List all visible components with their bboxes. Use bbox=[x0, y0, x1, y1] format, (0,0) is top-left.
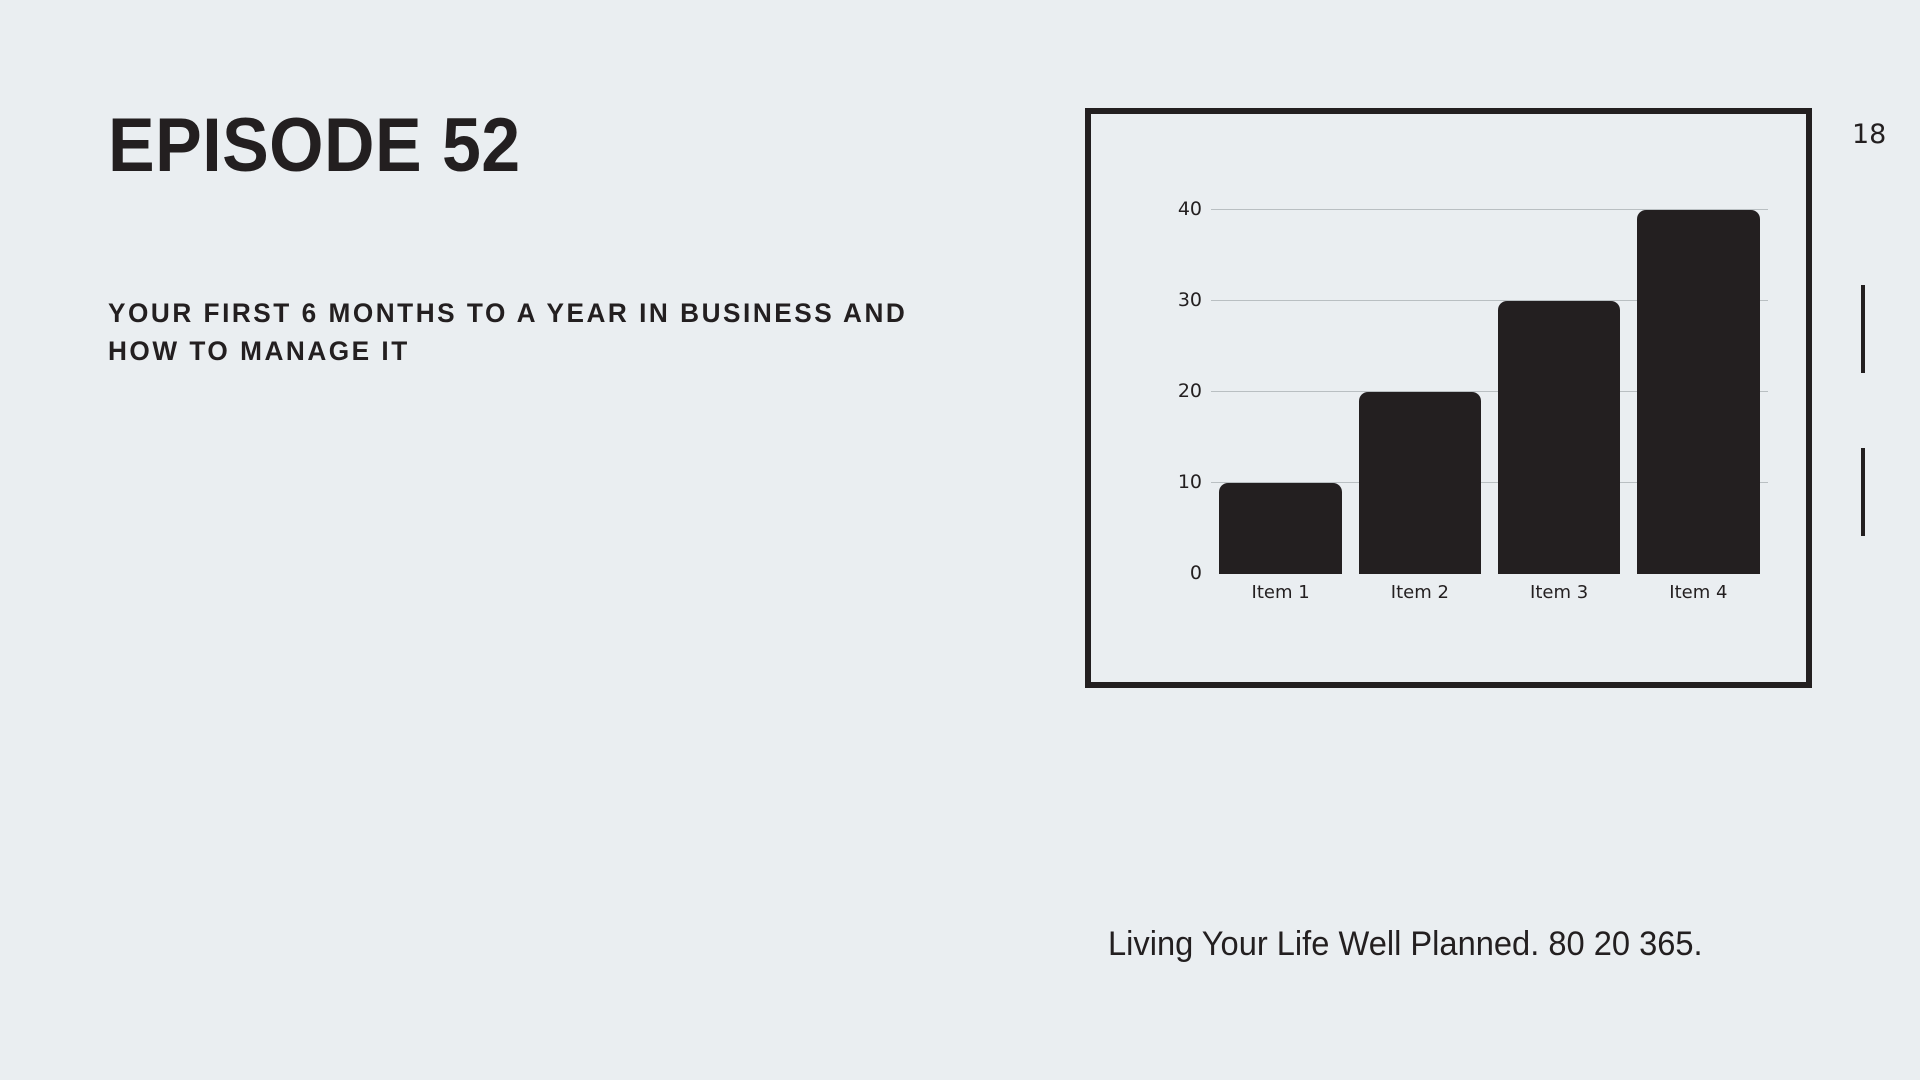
presentation-slide: EPISODE 52 Your first 6 months to a year… bbox=[0, 0, 1920, 1080]
x-axis-tick-label: Item 1 bbox=[1252, 582, 1310, 603]
slide-subtitle: Your first 6 months to a year in busines… bbox=[108, 294, 913, 371]
bar-item-2[interactable] bbox=[1359, 392, 1482, 574]
bar-item-3[interactable] bbox=[1498, 301, 1621, 574]
x-axis-tick-label: Item 3 bbox=[1530, 582, 1588, 603]
bar-chart: 40 30 20 10 0 Item 1 bbox=[1091, 114, 1806, 682]
y-axis-tick-label: 10 bbox=[1178, 471, 1202, 493]
chart-plot-area: 40 30 20 10 0 Item 1 bbox=[1211, 174, 1768, 574]
slide-footer-tagline: Living Your Life Well Planned. 80 20 365… bbox=[1108, 925, 1703, 964]
y-axis-tick-label: 20 bbox=[1178, 380, 1202, 402]
bar-item-1[interactable] bbox=[1219, 483, 1342, 574]
y-axis-tick-label: 40 bbox=[1178, 198, 1202, 220]
bar-group: Item 3 bbox=[1490, 174, 1629, 574]
rail-tick-mark-2 bbox=[1861, 448, 1865, 536]
slide-number: 18 bbox=[1852, 121, 1886, 148]
slide-text-block: EPISODE 52 Your first 6 months to a year… bbox=[108, 108, 948, 184]
y-axis-tick-label: 30 bbox=[1178, 289, 1202, 311]
chart-bars: Item 1 Item 2 Item 3 Item 4 bbox=[1211, 174, 1768, 574]
x-axis-tick-label: Item 2 bbox=[1391, 582, 1449, 603]
bar-group: Item 2 bbox=[1350, 174, 1489, 574]
chart-frame: 40 30 20 10 0 Item 1 bbox=[1085, 108, 1812, 688]
bar-item-4[interactable] bbox=[1637, 210, 1760, 574]
y-axis-tick-label: 0 bbox=[1190, 562, 1202, 584]
page-title: EPISODE 52 bbox=[108, 108, 881, 184]
bar-group: Item 1 bbox=[1211, 174, 1350, 574]
x-axis-tick-label: Item 4 bbox=[1669, 582, 1727, 603]
rail-tick-mark-1 bbox=[1861, 285, 1865, 373]
bar-group: Item 4 bbox=[1629, 174, 1768, 574]
